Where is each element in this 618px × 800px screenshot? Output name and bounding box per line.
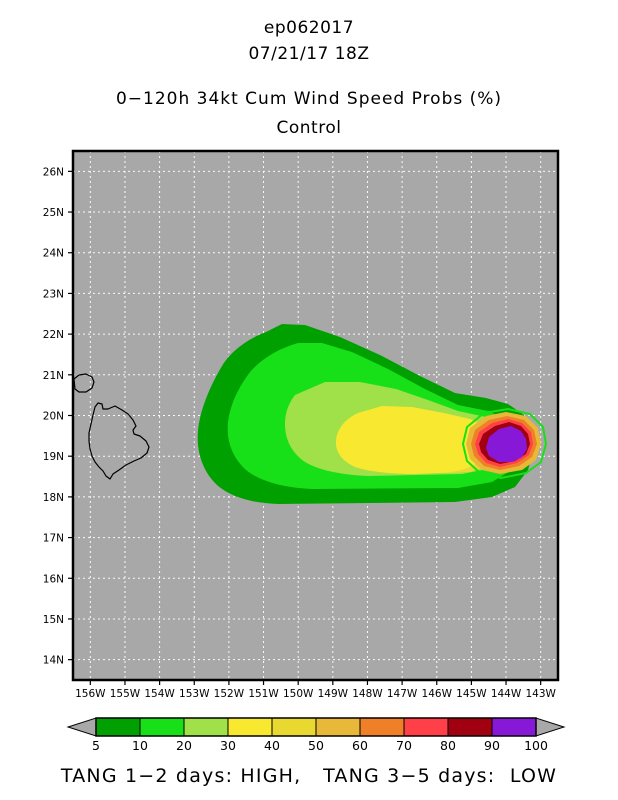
longitude-tick-label: 149W [318,688,349,700]
colorbar-band [140,718,184,736]
longitude-tick-label: 153W [179,688,210,700]
colorbar-tick-label: 30 [220,738,236,753]
longitude-tick-label: 156W [75,688,106,700]
latitude-tick-label: 26N [43,166,64,178]
latitude-tick-label: 25N [43,207,64,219]
valid-datetime-title: 07/21/17 18Z [0,44,618,64]
longitude-tick-label: 144W [491,688,522,700]
storm-id-title: ep062017 [0,18,618,38]
longitude-tick-label: 155W [110,688,141,700]
latitude-tick-label: 24N [43,248,64,260]
latitude-tick-label: 19N [43,451,64,463]
longitude-tick-label: 147W [387,688,418,700]
ensemble-member-title: Control [0,118,618,138]
colorbar-tick-label: 80 [440,738,456,753]
colorbar-tick-label: 40 [264,738,280,753]
latitude-tick-label: 15N [43,614,64,626]
latitude-tick-label: 21N [43,370,64,382]
colorbar-band [316,718,360,736]
map-panel: 14N15N16N17N18N19N20N21N22N23N24N25N26N … [43,151,558,700]
colorbar-tick-label: 5 [92,738,100,753]
latitude-tick-label: 17N [43,533,64,545]
colorbar-tick-label: 70 [396,738,412,753]
longitude-tick-label: 148W [352,688,383,700]
colorbar-band [404,718,448,736]
probability-colorbar: 5102030405060708090100 [68,718,564,753]
latitude-tick-label: 20N [43,411,64,423]
latitude-tick-label: 23N [43,288,64,300]
longitude-tick-label: 145W [456,688,487,700]
longitude-tick-label: 154W [144,688,175,700]
colorbar-tick-label: 100 [524,738,548,753]
colorbar-band [96,718,140,736]
colorbar-tick-label: 50 [308,738,324,753]
latitude-tick-label: 18N [43,492,64,504]
product-title: 0−120h 34kt Cum Wind Speed Probs (%) [0,89,618,109]
latitude-tick-label: 14N [43,655,64,667]
colorbar-band [228,718,272,736]
colorbar-band [184,718,228,736]
longitude-tick-label: 146W [422,688,453,700]
colorbar-tick-label: 20 [176,738,192,753]
longitude-tick-label: 152W [214,688,245,700]
colorbar-band [360,718,404,736]
colorbar-tick-label: 10 [132,738,148,753]
tang-confidence-note: TANG 1−2 days: HIGH, TANG 3−5 days: LOW [0,765,618,787]
colorbar-band [448,718,492,736]
colorbar-band [272,718,316,736]
colorbar-tick-label: 90 [484,738,500,753]
longitude-tick-label: 151W [248,688,279,700]
latitude-tick-label: 16N [43,573,64,585]
longitude-tick-label: 150W [283,688,314,700]
colorbar-band [492,718,536,736]
latitude-tick-label: 22N [43,329,64,341]
longitude-tick-label: 143W [525,688,556,700]
colorbar-tick-label: 60 [352,738,368,753]
